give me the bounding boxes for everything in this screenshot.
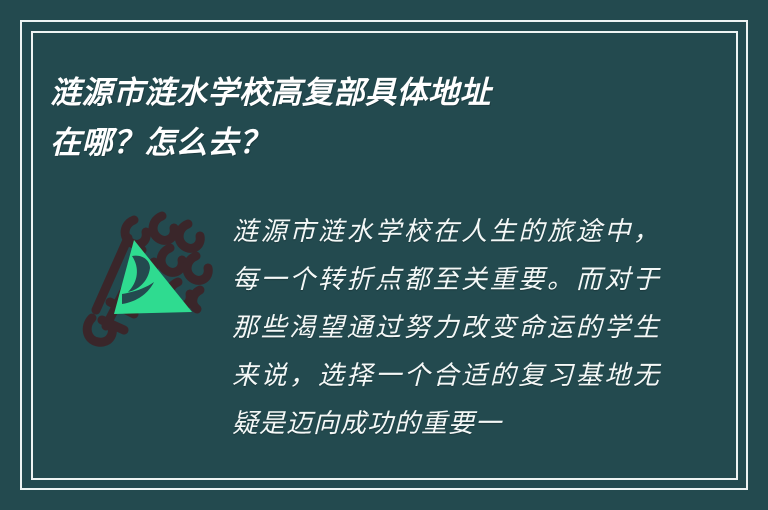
article-body: 涟源市涟水学校在人生的旅途中，每一个转折点都至关重要。而对于那些渴望通过努力改变… <box>232 208 660 448</box>
article-cover-card: 涟源市涟水学校高复部具体地址 在哪？怎么去？ <box>0 0 768 510</box>
page-title: 涟源市涟水学校高复部具体地址 在哪？怎么去？ <box>50 68 690 168</box>
brand-logo <box>76 198 226 353</box>
article-paragraph: 涟源市涟水学校在人生的旅途中，每一个转折点都至关重要。而对于那些渴望通过努力改变… <box>232 208 660 448</box>
